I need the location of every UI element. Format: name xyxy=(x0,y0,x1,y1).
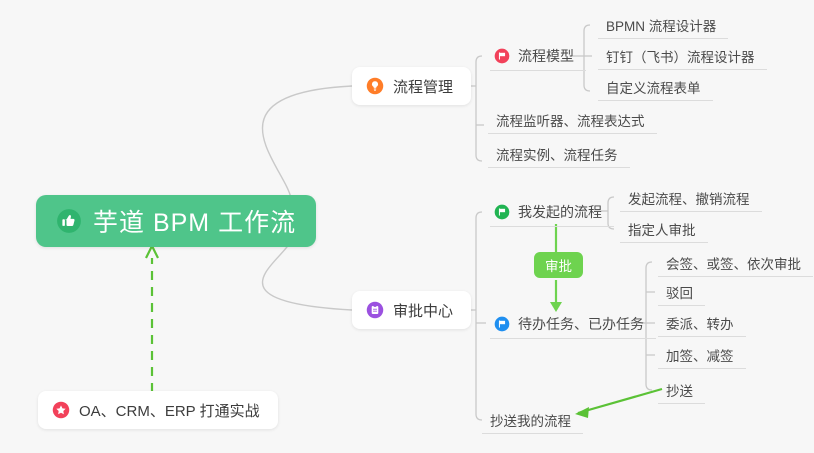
leaf-cc-to-me[interactable]: 抄送我的流程 xyxy=(482,406,583,434)
leaf-add-remove-sign-label: 加签、减签 xyxy=(666,345,734,365)
leaf-reject[interactable]: 驳回 xyxy=(658,278,705,306)
branch-approval-center[interactable]: 审批中心 xyxy=(352,291,471,329)
root-node-label: 芋道 BPM 工作流 xyxy=(93,203,296,239)
leaf-start-cancel-process-label: 发起流程、撤销流程 xyxy=(628,188,750,208)
leaf-reject-label: 驳回 xyxy=(666,282,693,302)
leaf-process-instance-label: 流程实例、流程任务 xyxy=(496,144,618,164)
leaf-add-remove-sign[interactable]: 加签、减签 xyxy=(658,341,746,369)
leaf-custom-form-label: 自定义流程表单 xyxy=(606,77,701,97)
root-node[interactable]: 芋道 BPM 工作流 xyxy=(36,195,316,247)
branch-todo-done-tasks[interactable]: 待办任务、已办任务 xyxy=(490,309,656,339)
leaf-process-listener[interactable]: 流程监听器、流程表达式 xyxy=(488,106,657,134)
leaf-start-cancel-process[interactable]: 发起流程、撤销流程 xyxy=(620,184,762,212)
flag-icon xyxy=(494,48,510,64)
annotation-arrowhead-note xyxy=(146,246,158,258)
annotation-tag-approval: 审批 xyxy=(534,252,583,278)
branch-process-model[interactable]: 流程模型 xyxy=(490,41,586,71)
leaf-countersign-label: 会签、或签、依次审批 xyxy=(666,253,801,273)
branch-process-management[interactable]: 流程管理 xyxy=(352,67,471,105)
flag-icon xyxy=(494,204,510,220)
clipboard-icon xyxy=(366,301,384,319)
lightbulb-icon xyxy=(366,77,384,95)
leaf-bpmn-designer-label: BPMN 流程设计器 xyxy=(606,15,716,35)
leaf-bpmn-designer[interactable]: BPMN 流程设计器 xyxy=(598,11,728,39)
leaf-delegate-transfer[interactable]: 委派、转办 xyxy=(658,309,746,337)
branch-process-model-label: 流程模型 xyxy=(518,46,574,66)
leaf-cc-to-me-label: 抄送我的流程 xyxy=(490,410,571,430)
leaf-process-instance[interactable]: 流程实例、流程任务 xyxy=(488,140,630,168)
note-integration[interactable]: OA、CRM、ERP 打通实战 xyxy=(38,391,278,429)
leaf-cc-label: 抄送 xyxy=(666,380,693,400)
leaf-assignee-approval[interactable]: 指定人审批 xyxy=(620,215,708,243)
leaf-countersign[interactable]: 会签、或签、依次审批 xyxy=(658,249,813,277)
leaf-process-listener-label: 流程监听器、流程表达式 xyxy=(496,110,645,130)
link-pm-bracket xyxy=(476,56,482,161)
branch-my-processes-label: 我发起的流程 xyxy=(518,202,602,222)
leaf-cc[interactable]: 抄送 xyxy=(658,376,705,404)
star-icon xyxy=(52,401,70,419)
mindmap-canvas: 芋道 BPM 工作流 流程管理 流程模型 BPMN 流程设计器 钉钉（飞书 xyxy=(0,0,814,453)
leaf-assignee-approval-label: 指定人审批 xyxy=(628,219,696,239)
branch-process-management-label: 流程管理 xyxy=(393,76,453,97)
leaf-dingtalk-designer-label: 钉钉（飞书）流程设计器 xyxy=(606,46,755,66)
thumbs-up-icon xyxy=(56,208,82,234)
link-root-to-process-management xyxy=(262,86,352,212)
branch-my-processes[interactable]: 我发起的流程 xyxy=(490,197,614,227)
branch-approval-center-label: 审批中心 xyxy=(393,300,453,321)
annotation-tag-approval-label: 审批 xyxy=(545,255,572,275)
branch-todo-done-tasks-label: 待办任务、已办任务 xyxy=(518,314,644,334)
leaf-custom-form[interactable]: 自定义流程表单 xyxy=(598,73,713,101)
link-ac-bracket xyxy=(476,212,482,420)
leaf-dingtalk-designer[interactable]: 钉钉（飞书）流程设计器 xyxy=(598,42,767,70)
flag-icon xyxy=(494,316,510,332)
note-integration-label: OA、CRM、ERP 打通实战 xyxy=(79,400,260,421)
leaf-delegate-transfer-label: 委派、转办 xyxy=(666,313,734,333)
annotation-arrow-cc xyxy=(578,389,662,413)
